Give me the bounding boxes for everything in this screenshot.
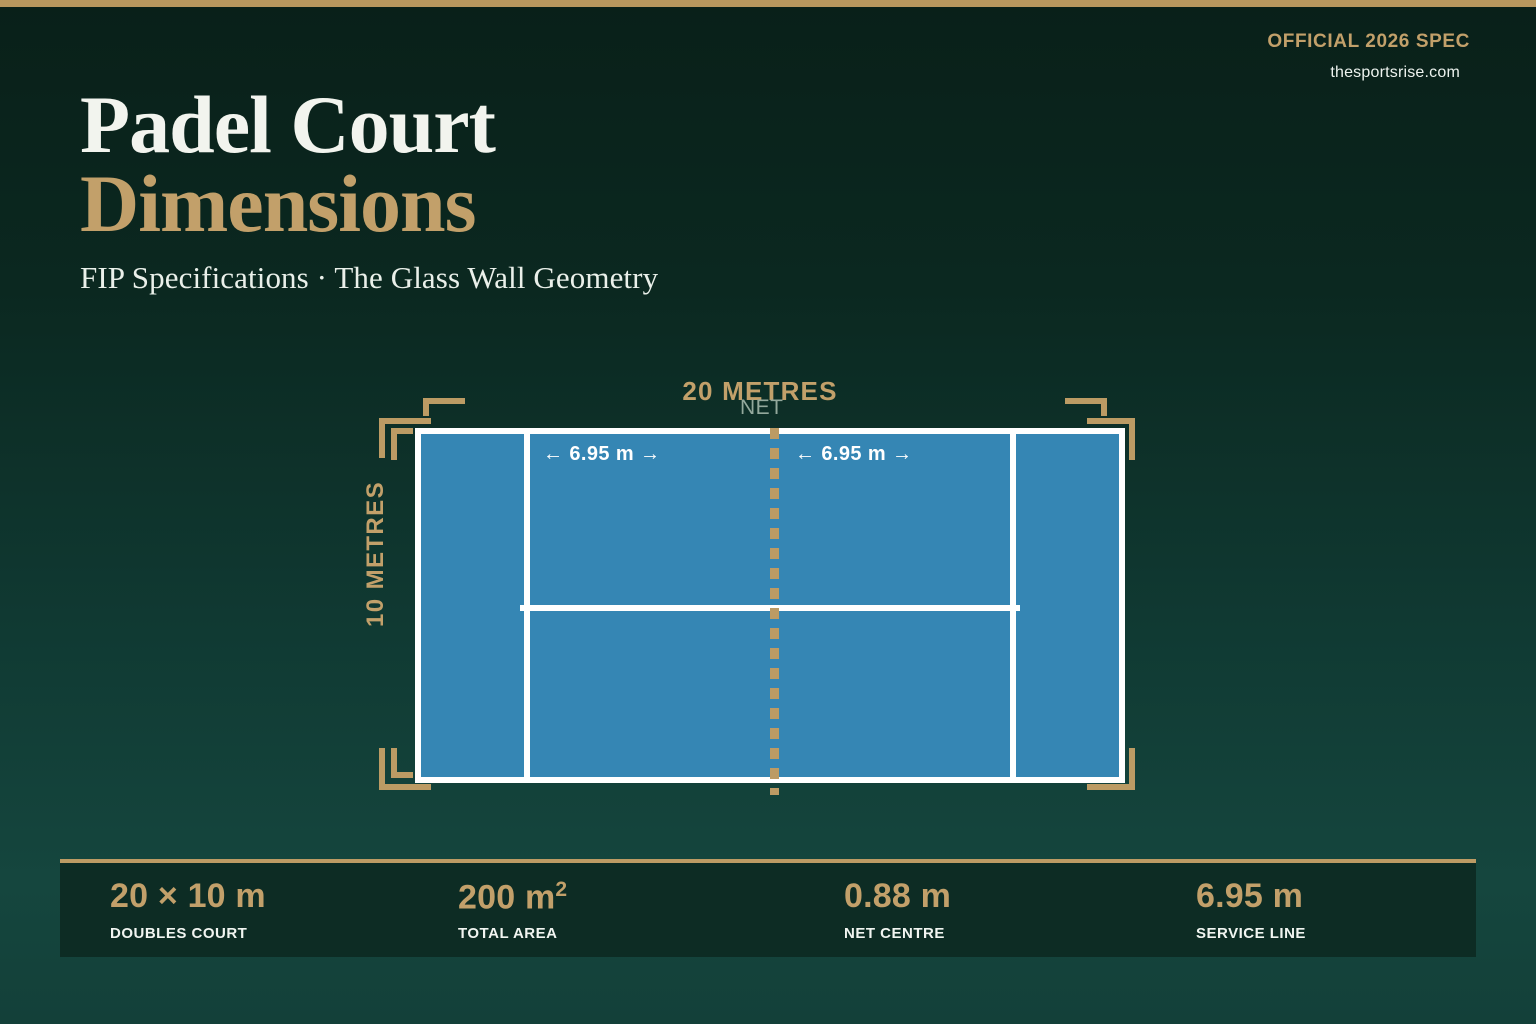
stat-label: TOTAL AREA	[458, 925, 794, 942]
stat-net-centre: 0.88 m NET CENTRE	[794, 878, 1146, 941]
page-title-line1: Padel Court	[80, 86, 658, 165]
title-block: Padel Court Dimensions FIP Specification…	[80, 86, 658, 296]
net-label: NET	[740, 396, 784, 420]
net-line	[770, 428, 779, 795]
stat-doubles-court: 20 × 10 m DOUBLES COURT	[60, 878, 408, 941]
top-accent-bar	[0, 0, 1536, 7]
stat-total-area: 200 m2 TOTAL AREA	[408, 878, 794, 943]
stat-label: NET CENTRE	[844, 925, 1146, 942]
court-outer-wall: ← 6.95 m → ← 6.95 m →	[415, 428, 1125, 783]
page-title-line2: Dimensions	[80, 165, 658, 244]
stat-value: 200 m2	[458, 878, 794, 917]
side-dimension-label: 10 METRES	[362, 481, 390, 627]
site-url: thesportsrise.com	[1330, 64, 1460, 82]
court-surface: ← 6.95 m → ← 6.95 m →	[421, 434, 1119, 777]
spec-badge: OFFICIAL 2026 SPEC	[1267, 31, 1470, 53]
service-dimension-right: ← 6.95 m →	[795, 443, 912, 466]
stat-value-text: 200 m	[458, 878, 555, 916]
stat-value: 20 × 10 m	[110, 878, 408, 915]
stat-service-line: 6.95 m SERVICE LINE	[1146, 878, 1476, 941]
stat-value: 6.95 m	[1196, 878, 1476, 915]
stats-bar: 20 × 10 m DOUBLES COURT 200 m2 TOTAL ARE…	[60, 859, 1476, 957]
stat-label: SERVICE LINE	[1196, 925, 1476, 942]
service-dimension-left: ← 6.95 m →	[543, 443, 660, 466]
page-subtitle: FIP Specifications · The Glass Wall Geom…	[80, 260, 658, 296]
court-diagram: 20 METRES NET 10 METRES ← 6.95 m	[355, 370, 1165, 810]
stat-value-superscript: 2	[555, 878, 567, 901]
stat-value: 0.88 m	[844, 878, 1146, 915]
stat-label: DOUBLES COURT	[110, 925, 408, 942]
